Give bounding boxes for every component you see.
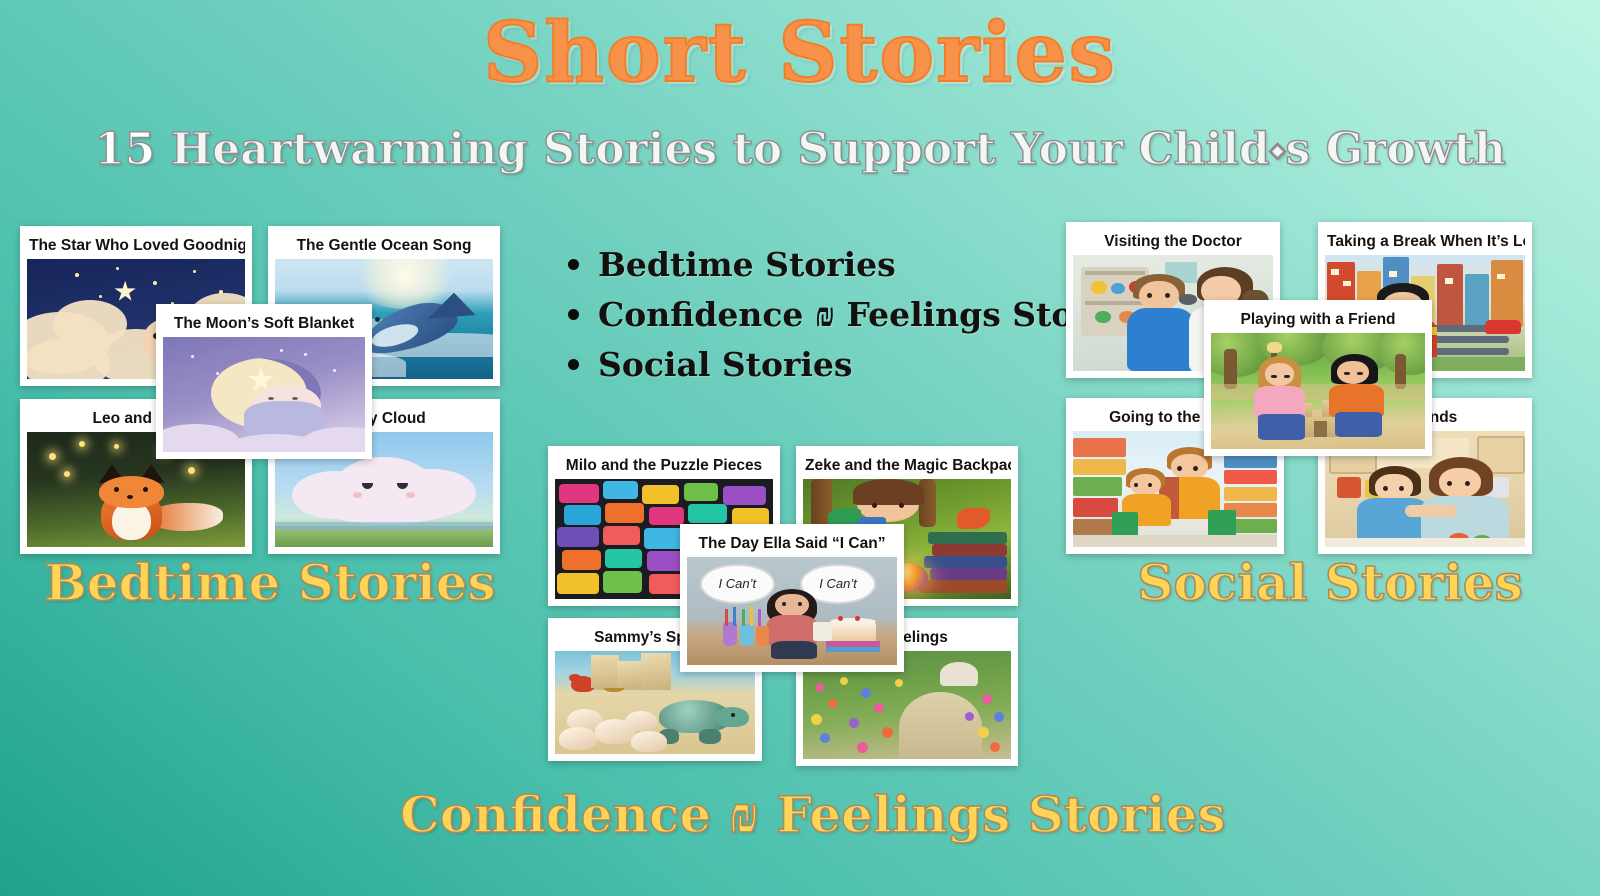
card-bedtime-5[interactable]: The Moon’s Soft Blanket	[156, 304, 372, 459]
bullet-item-bedtime: Bedtime Stories	[598, 240, 1118, 290]
card-title: Visiting the Doctor	[1073, 229, 1273, 255]
card-social-5[interactable]: Playing with a Friend	[1204, 300, 1432, 456]
card-title: The Moon’s Soft Blanket	[163, 311, 365, 337]
category-bullet-list: Bedtime Stories Confidence ₪ Feelings St…	[556, 240, 1118, 390]
card-confidence-5[interactable]: The Day Ella Said “I Can” I Can’t I Can’…	[680, 524, 904, 672]
section-label-confidence: Confidence ₪ Feelings Stories	[400, 790, 1200, 840]
poster-canvas: Short Stories 15 Heartwarming Stories to…	[0, 0, 1600, 896]
card-title: Playing with a Friend	[1211, 307, 1425, 333]
section-label-social: Social Stories	[1080, 558, 1580, 608]
bullet-item-confidence: Confidence ₪ Feelings Stories	[598, 290, 1118, 340]
card-title: The Day Ella Said “I Can”	[687, 531, 897, 557]
subtitle-count: 15	[94, 124, 155, 175]
bullet-item-social: Social Stories	[598, 340, 1118, 390]
card-image-park-sandcastle	[1211, 333, 1425, 449]
card-title: The Star Who Loved Goodnights	[27, 233, 245, 259]
card-title: The Gentle Ocean Song	[275, 233, 493, 259]
card-title: Zeke and the Magic Backpack	[803, 453, 1011, 479]
page-subtitle: 15 Heartwarming Stories to Support Your …	[0, 126, 1600, 174]
subtitle-text: Heartwarming Stories to Support Your Chi…	[155, 124, 1506, 175]
card-title: Milo and the Puzzle Pieces	[555, 453, 773, 479]
section-label-bedtime: Bedtime Stories	[20, 558, 520, 608]
card-image-moon-star-blanket	[163, 337, 365, 452]
page-title: Short Stories	[0, 6, 1600, 100]
card-image-ella-thinking: I Can’t I Can’t	[687, 557, 897, 665]
card-title: Taking a Break When It’s Loud	[1325, 229, 1525, 255]
thought-bubble-left: I Can’t	[700, 564, 775, 605]
